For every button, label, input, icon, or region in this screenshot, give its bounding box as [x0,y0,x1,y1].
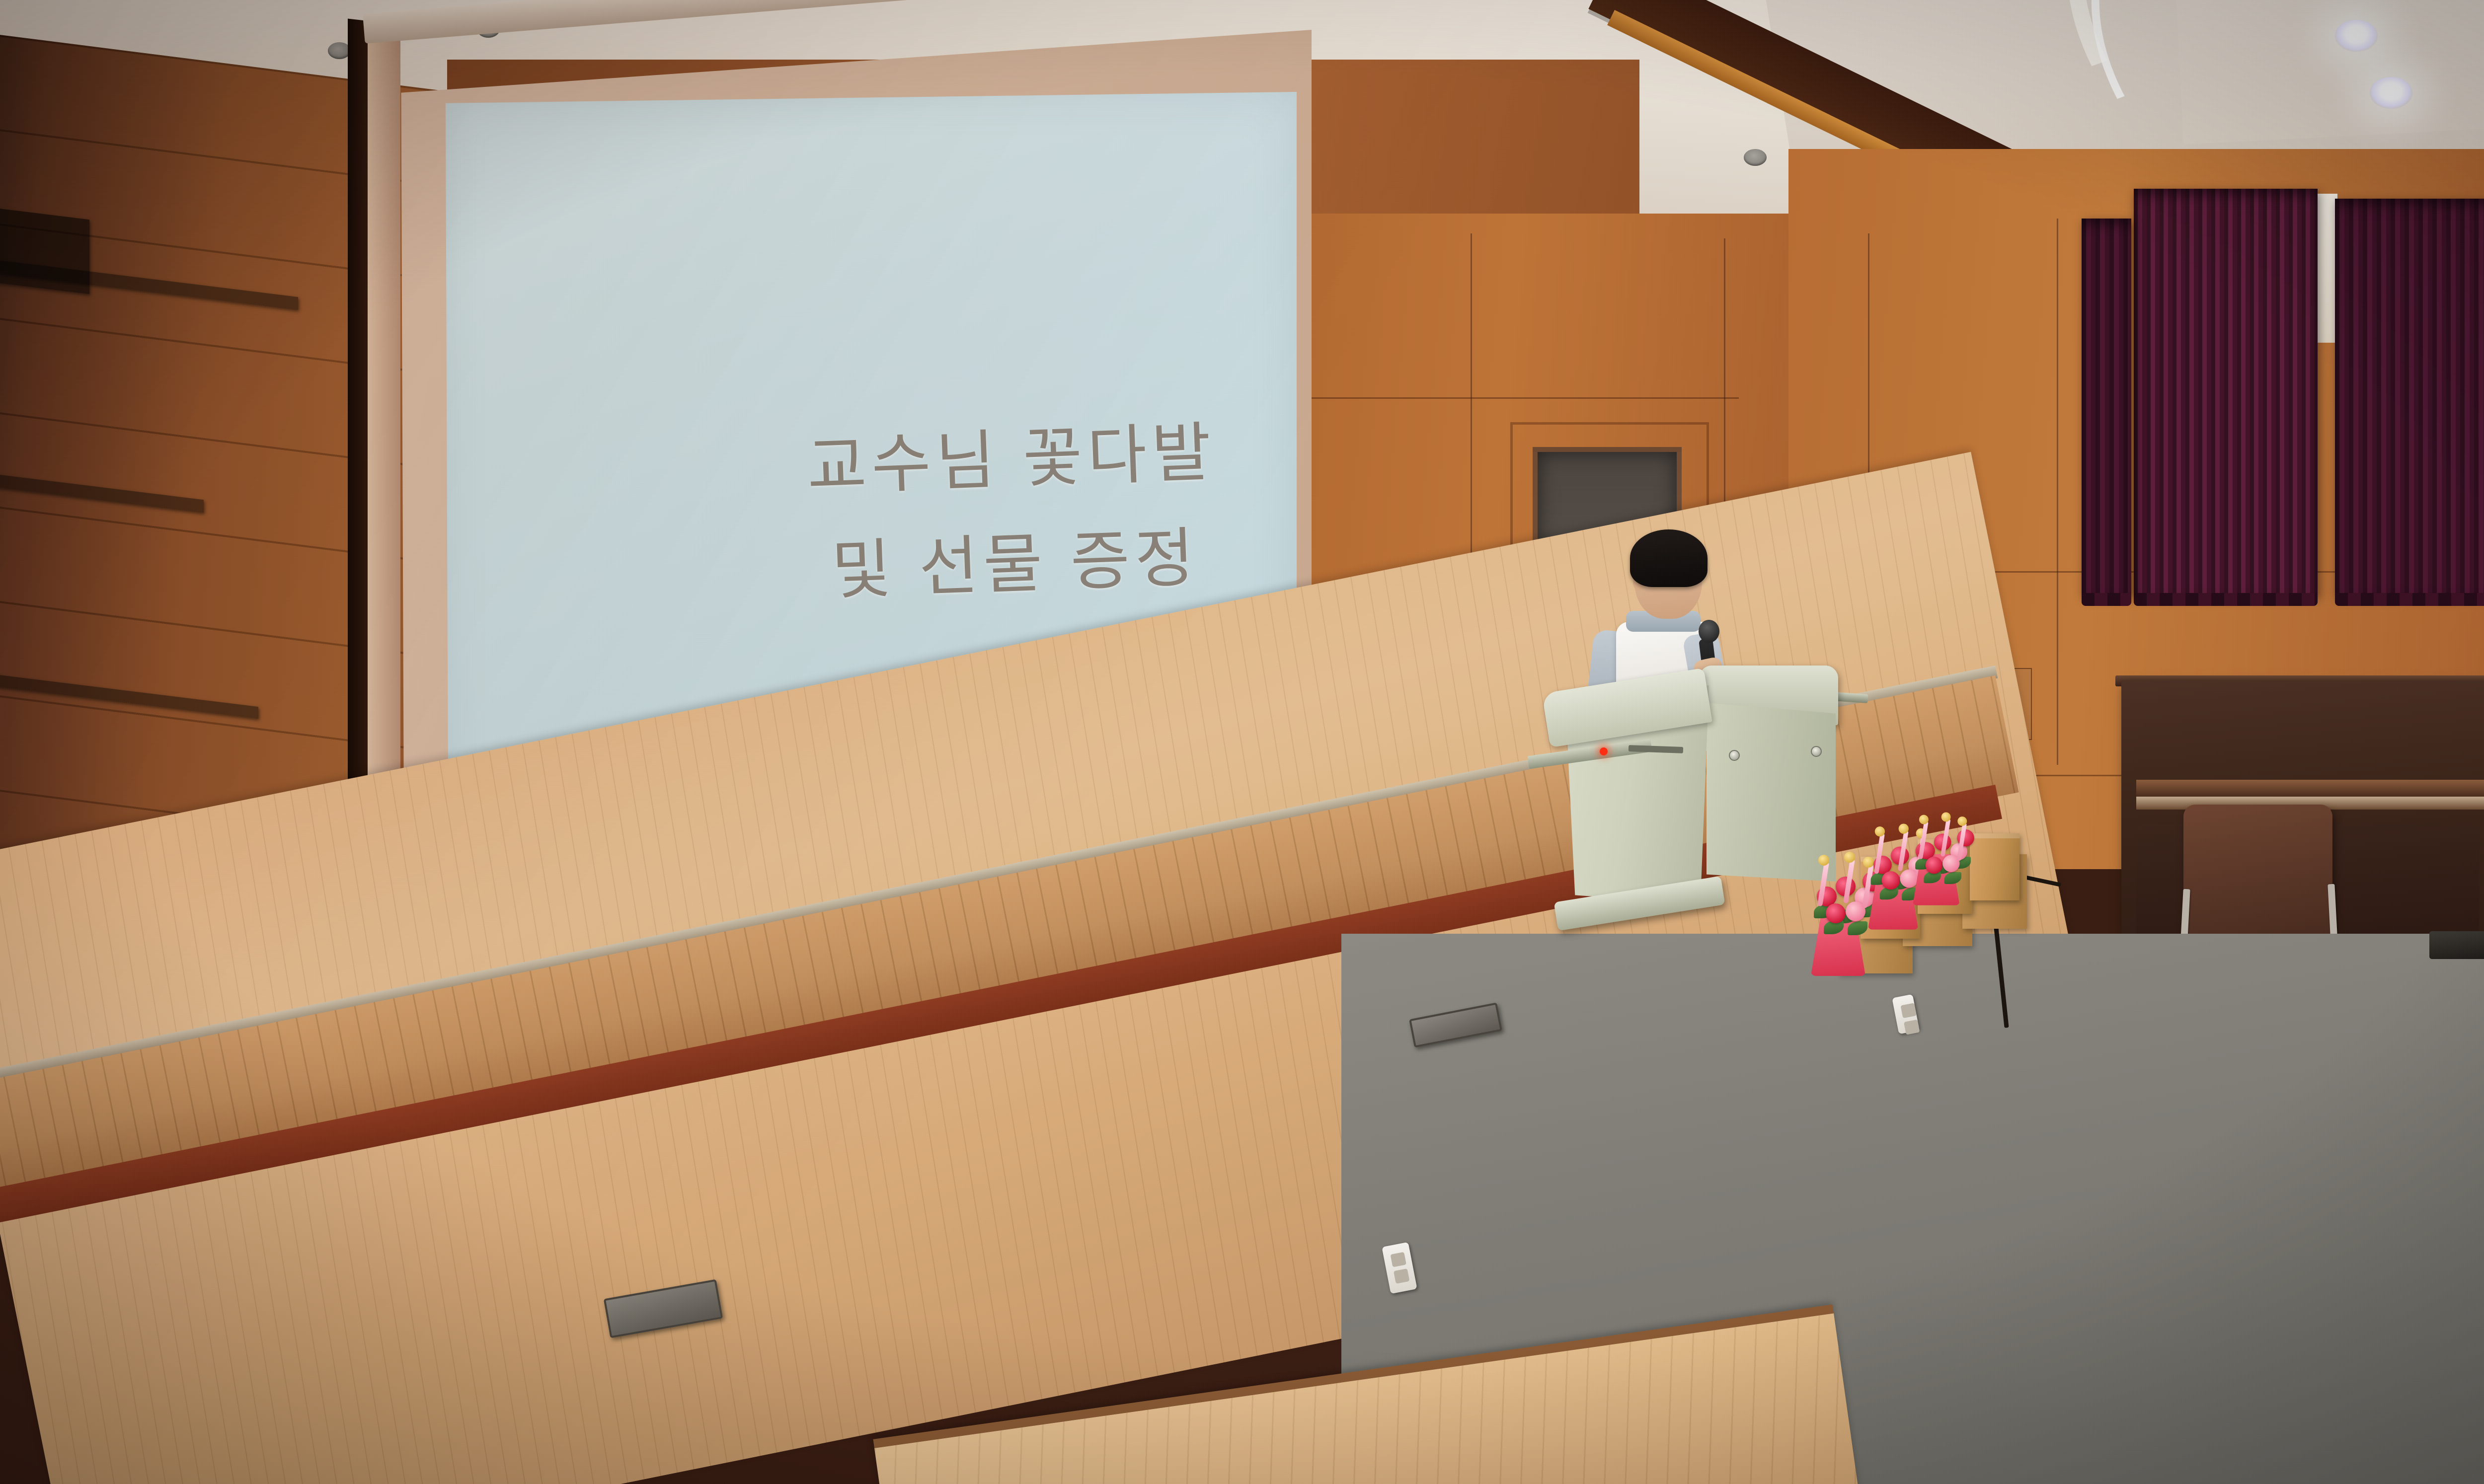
floor-object [2429,931,2484,959]
curtain-hem [2134,593,2318,606]
lectern-podium [1565,656,1784,924]
bouquet-rose [1826,903,1846,923]
podium-lock[interactable] [1729,750,1740,761]
window-daylight-gap [2318,194,2337,343]
curtain-hem [2335,593,2484,606]
window-curtain-panel[interactable] [2134,189,2318,596]
podium-power-led [1600,747,1608,755]
bouquet-gold-bead [1957,816,1967,826]
flower-bouquet [1913,821,1983,905]
bouquet-rose [1882,871,1900,890]
window-curtain-panel[interactable] [2335,199,2484,596]
auditorium-photo: 교수님 꽃다발 및 선물 증정 [0,0,2484,1484]
bouquet-gold-bead [1818,855,1829,866]
window-curtain-panel[interactable] [2082,219,2131,596]
bouquet-leaf [1848,921,1867,935]
speaker-hair [1630,529,1708,587]
piano-fallboard [2136,780,2484,797]
ceiling-downlight-on [2335,20,2378,52]
bouquet-gold-bead [1875,826,1885,836]
wall-panel-seam [2057,219,2058,765]
podium-side-panel [1707,703,1836,882]
podium-lock[interactable] [1811,746,1822,757]
bouquet-leaf [1944,872,1961,884]
bouquet-rose [1926,857,1942,874]
curtain-hem [2082,593,2131,606]
microphone-head [1699,620,1719,643]
ceiling-downlight-on [2370,77,2412,109]
wall-slat-recess [0,208,89,295]
wall-panel-seam [1292,397,1739,399]
bouquet-gold-bead [1844,852,1855,863]
bouquet-gold-bead [1941,812,1951,821]
ceiling-downlight-off [1744,149,1767,166]
bouquet-gold-bead [1899,824,1909,834]
bouquet-gold-bead [1919,815,1929,824]
